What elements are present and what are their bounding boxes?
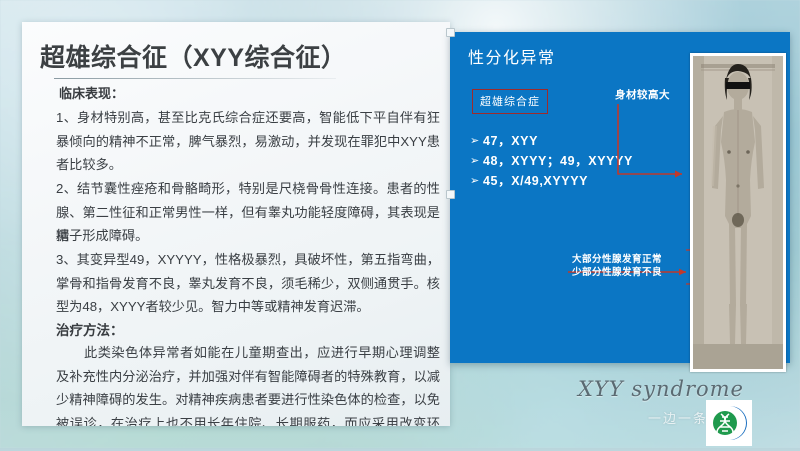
- highlight-box-xyy[interactable]: 超雄综合症: [472, 89, 548, 114]
- list-item-label: 48，XYYY；49，XYYYY: [483, 152, 633, 170]
- clinical-photo[interactable]: [690, 53, 786, 372]
- dna-circle-logo: [706, 400, 752, 446]
- slide-title: 性分化异常: [468, 44, 556, 68]
- resize-handle-middle-left[interactable]: [446, 190, 455, 199]
- list-item-label: 45，X/49,XYYYY: [483, 172, 588, 190]
- list-item[interactable]: ➢ 48，XYYY；49，XYYYY: [470, 152, 633, 170]
- paragraph-treatment: 此类染色体异常者如能在儿童期查出，应进行早期心理调整及补充性内分泌治疗，并加强对…: [56, 341, 440, 426]
- paragraph-1: 1、身材特别高，甚至比克氏综合症还要高，智能低下平自伴有狂暴倾向的精神不正常，脾…: [56, 106, 440, 177]
- title-divider: [54, 78, 336, 79]
- chevron-right-icon: ➢: [470, 132, 483, 150]
- callout-gonad-line-2: 少部分性腺发育不良: [572, 266, 662, 279]
- paragraph-3: 3、其变异型49，XYYYY，性格极暴烈，具破坏性，第五指弯曲，掌骨和指骨发育不…: [56, 248, 440, 319]
- callout-label-gonad: 大部分性腺发育正常 少部分性腺发育不良: [572, 253, 662, 279]
- callout-label-tall-stature: 身材较高大: [615, 87, 670, 102]
- callout-gonad-line-1: 大部分性腺发育正常: [572, 253, 662, 266]
- chevron-right-icon: ➢: [470, 152, 483, 170]
- clinical-photo-image: [693, 56, 783, 369]
- section-heading-treatment: 治疗方法：: [56, 319, 124, 339]
- list-item[interactable]: ➢ 45，X/49,XYYYY: [470, 172, 633, 190]
- chevron-right-icon: ➢: [470, 172, 483, 190]
- list-item[interactable]: ➢ 47，XYY: [470, 132, 633, 150]
- section-heading-clinical: 临床表现：: [59, 83, 124, 102]
- paragraph-fragment: 据: [56, 224, 440, 248]
- resize-handle-top-left[interactable]: [446, 28, 455, 37]
- list-item-label: 47，XYY: [483, 132, 538, 150]
- document-panel: 超雄综合征（XYY综合征） 临床表现： 1、身材特别高，甚至比克氏综合症还要高，…: [22, 22, 450, 426]
- footer-script-text: XYY syndrome: [578, 377, 744, 401]
- karyotype-list: ➢ 47，XYY ➢ 48，XYYY；49，XYYYY ➢ 45，X/49,XY…: [470, 132, 633, 192]
- page-title: 超雄综合征（XYY综合征）: [40, 38, 347, 74]
